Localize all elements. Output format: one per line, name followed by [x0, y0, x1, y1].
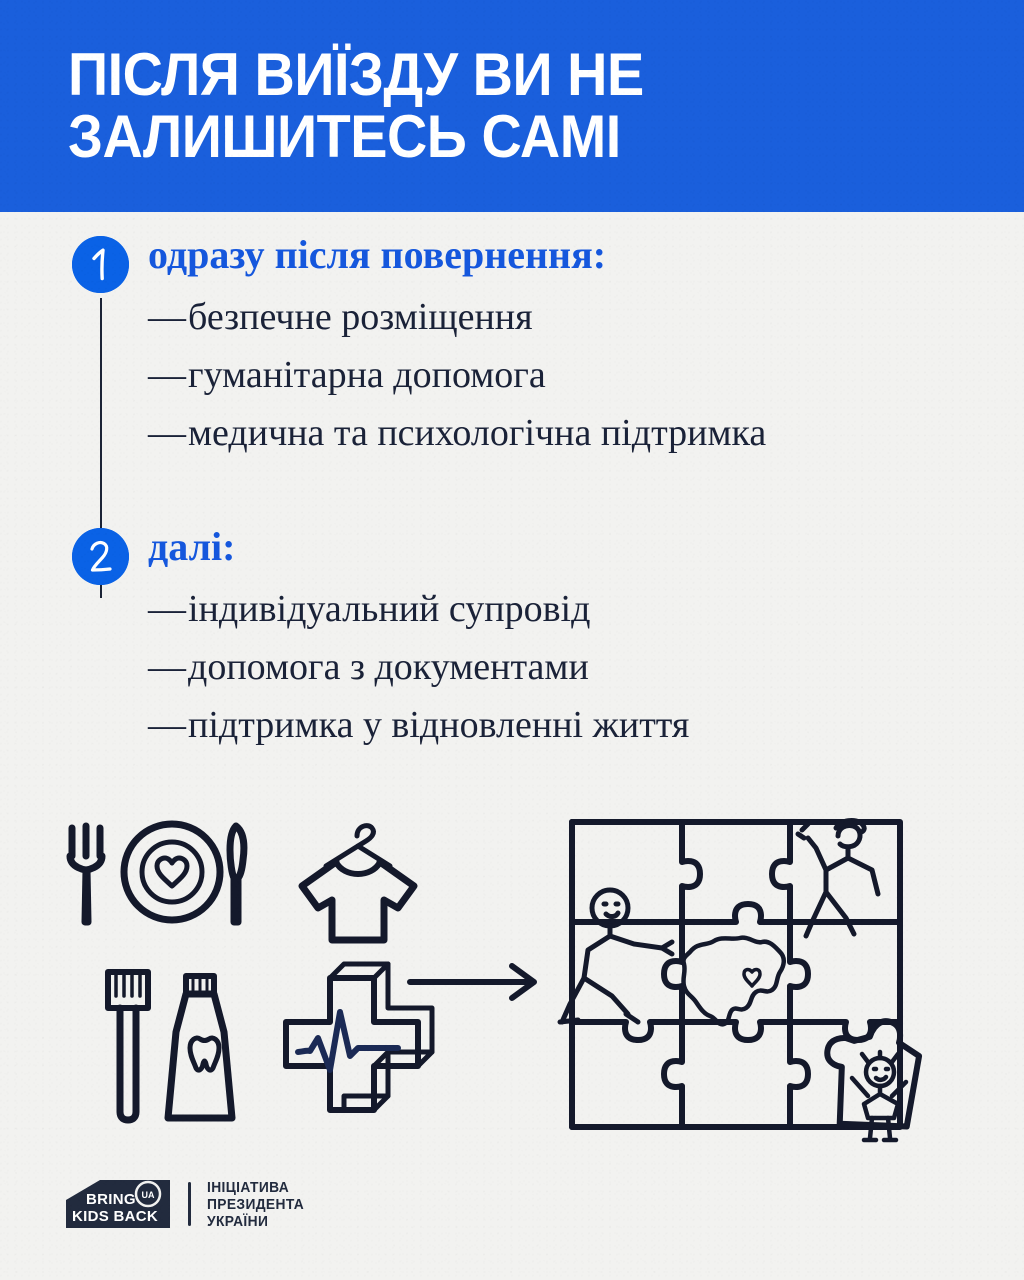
step-1-heading: одразу після повернення: [148, 232, 1008, 278]
footer-divider [188, 1182, 191, 1226]
tshirt-hanger-icon [302, 826, 414, 940]
step-2-body: далі: — індивідуальний супровід — допомо… [148, 524, 1008, 754]
arrow-right-icon [410, 966, 534, 998]
page-title-line-2: ЗАЛИШИТЕСЬ САМІ [68, 106, 886, 168]
initiative-line-3: УКРАЇНИ [207, 1213, 304, 1230]
step-2-list: — індивідуальний супровід — допомога з д… [148, 580, 1008, 754]
infographic-page: ПІСЛЯ ВИЇЗДУ ВИ НЕ ЗАЛИШИТЕСЬ САМІ одраз… [0, 0, 1024, 1280]
bullet-dash: — [148, 696, 188, 754]
list-item-label: допомога з документами [188, 638, 589, 696]
list-item: — медична та психологічна підтримка [148, 404, 1008, 462]
list-item-label: індивідуальний супровід [188, 580, 590, 638]
list-item: — безпечне розміщення [148, 288, 1008, 346]
list-item-label: підтримка у відновленні життя [188, 696, 689, 754]
initiative-line-1: ІНІЦІАТИВА [207, 1179, 304, 1196]
bring-kids-back-logo: BRING KIDS BACK UA [64, 1178, 172, 1230]
step-1-badge [72, 236, 129, 293]
step-1-body: одразу після повернення: — безпечне розм… [148, 232, 1008, 462]
bullet-dash: — [148, 638, 188, 696]
list-item-label: безпечне розміщення [188, 288, 533, 346]
logo-ua-badge: UA [142, 1190, 155, 1200]
bullet-dash: — [148, 404, 188, 462]
list-item: — допомога з документами [148, 638, 1008, 696]
medical-cross-heartbeat-icon [286, 964, 432, 1110]
list-item-label: гуманітарна допомога [188, 346, 546, 404]
list-item: — гуманітарна допомога [148, 346, 1008, 404]
footer: BRING KIDS BACK UA ІНІЦІАТИВА ПРЕЗИДЕНТА… [64, 1178, 313, 1230]
initiative-text: ІНІЦІАТИВА ПРЕЗИДЕНТА УКРАЇНИ [207, 1179, 304, 1230]
logo-line-2: KIDS BACK [72, 1208, 158, 1225]
logo-line-1: BRING [86, 1191, 136, 1208]
page-title-line-1: ПІСЛЯ ВИЇЗДУ ВИ НЕ [68, 44, 886, 106]
header-band: ПІСЛЯ ВИЇЗДУ ВИ НЕ ЗАЛИШИТЕСЬ САМІ [0, 0, 1024, 212]
bullet-dash: — [148, 580, 188, 638]
list-item-label: медична та психологічна підтримка [188, 404, 766, 462]
page-title: ПІСЛЯ ВИЇЗДУ ВИ НЕ ЗАЛИШИТЕСЬ САМІ [68, 44, 886, 168]
step-1-list: — безпечне розміщення — гуманітарна допо… [148, 288, 1008, 462]
toothbrush-toothpaste-icon [108, 972, 232, 1120]
puzzle-ukraine-children [560, 821, 929, 1140]
bullet-dash: — [148, 288, 188, 346]
illustration-area [0, 800, 1024, 1170]
bullet-dash: — [148, 346, 188, 404]
initiative-line-2: ПРЕЗИДЕНТА [207, 1196, 304, 1213]
list-item: — індивідуальний супровід [148, 580, 1008, 638]
step-2-badge [72, 528, 129, 585]
step-2-heading: далі: [148, 524, 1008, 570]
fork-plate-heart-knife-icon [70, 824, 244, 922]
list-item: — підтримка у відновленні життя [148, 696, 1008, 754]
